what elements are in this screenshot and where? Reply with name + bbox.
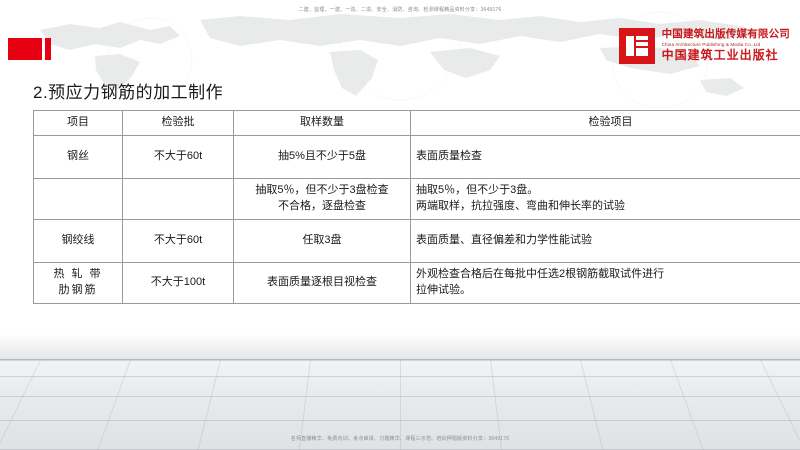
red-block-large bbox=[8, 38, 42, 60]
spec-table: 项目 检验批 取样数量 检验项目 钢丝 不大于60t 抽5%且不少于5盘 表面质… bbox=[33, 110, 800, 304]
cell-qty: 表面质量逐根目视检查 bbox=[234, 262, 411, 303]
col-header-insp: 检验项目 bbox=[411, 111, 800, 136]
cell-insp: 表面质量检查 bbox=[411, 135, 800, 178]
col-header-qty: 取样数量 bbox=[234, 111, 411, 136]
table-row: 钢绞线 不大于60t 任取3盘 表面质量、直径偏差和力学性能试验 bbox=[34, 219, 800, 262]
cell-qty: 任取3盘 bbox=[234, 219, 411, 262]
cell-qty: 抽5%且不少于5盘 bbox=[234, 135, 411, 178]
col-header-batch: 检验批 bbox=[123, 111, 234, 136]
cell-item: 钢绞线 bbox=[34, 219, 123, 262]
cell-batch: 不大于100t bbox=[123, 262, 234, 303]
publisher-name-en: China Architecture Publishing & Media Co… bbox=[662, 42, 790, 47]
cell-item bbox=[34, 178, 123, 219]
cell-qty: 抽取5％，但不少于3盘检查不合格，逐盘检查 bbox=[234, 178, 411, 219]
table-row: 钢丝 不大于60t 抽5%且不少于5盘 表面质量检查 bbox=[34, 135, 800, 178]
cell-item: 热 轧 带肋钢筋 bbox=[34, 262, 123, 303]
table-row: 热 轧 带肋钢筋 不大于100t 表面质量逐根目视检查 外观检查合格后在每批中任… bbox=[34, 262, 800, 303]
red-block-small bbox=[45, 38, 51, 60]
footer-watermark-note: 名师直播精华、免费内训、考点串讲、习题精华、课程三示范、培训押题版资料分享：36… bbox=[0, 435, 800, 442]
decorative-red-mark bbox=[8, 38, 51, 60]
publisher-brand: 中国建筑工业出版社 bbox=[662, 49, 790, 62]
slide-root: 二建、监理、一建、一造、二造、安全、消防、咨询、检测课程精品资料分享：36491… bbox=[0, 0, 800, 450]
top-watermark-note: 二建、监理、一建、一造、二造、安全、消防、咨询、检测课程精品资料分享：36491… bbox=[0, 6, 800, 13]
col-header-item: 项目 bbox=[34, 111, 123, 136]
cell-insp: 外观检查合格后在每批中任选2根钢筋截取试件进行拉伸试验。 bbox=[411, 262, 800, 303]
table-header-row: 项目 检验批 取样数量 检验项目 bbox=[34, 111, 800, 136]
seal-glyph bbox=[625, 34, 649, 58]
cell-batch: 不大于60t bbox=[123, 219, 234, 262]
publisher-seal-icon bbox=[619, 28, 655, 64]
cell-insp: 表面质量、直径偏差和力学性能试验 bbox=[411, 219, 800, 262]
publisher-text-block: 中国建筑出版传媒有限公司 China Architecture Publishi… bbox=[662, 29, 790, 62]
table-row: 抽取5％，但不少于3盘检查不合格，逐盘检查 抽取5％，但不少于3盘。两端取样，抗… bbox=[34, 178, 800, 219]
cell-insp: 抽取5％，但不少于3盘。两端取样，抗拉强度、弯曲和伸长率的试验 bbox=[411, 178, 800, 219]
cell-batch: 不大于60t bbox=[123, 135, 234, 178]
page-title: 2.预应力钢筋的加工制作 bbox=[33, 78, 223, 103]
publisher-name-cn: 中国建筑出版传媒有限公司 bbox=[662, 29, 790, 41]
cell-item: 钢丝 bbox=[34, 135, 123, 178]
spec-table-wrapper: 项目 检验批 取样数量 检验项目 钢丝 不大于60t 抽5%且不少于5盘 表面质… bbox=[33, 110, 766, 304]
cell-batch bbox=[123, 178, 234, 219]
wall-shadow bbox=[0, 334, 800, 360]
publisher-logo-group: 中国建筑出版传媒有限公司 China Architecture Publishi… bbox=[619, 28, 790, 64]
